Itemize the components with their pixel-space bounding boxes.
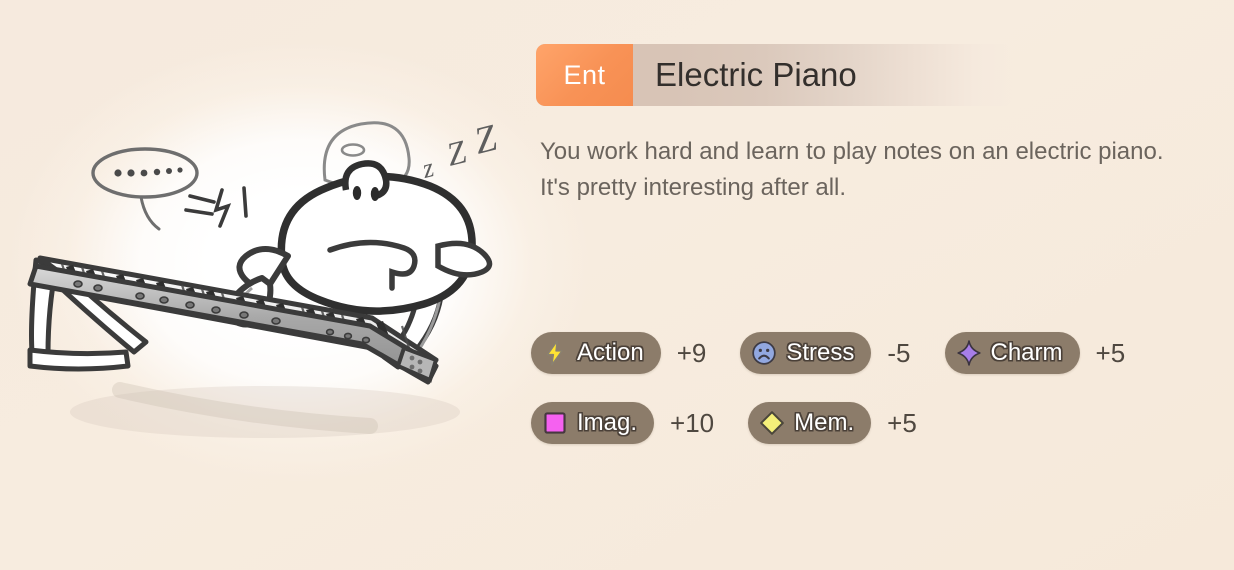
activity-description: You work hard and learn to play notes on…	[540, 134, 1180, 206]
card-title-bar: Ent Electric Piano	[536, 44, 1012, 106]
sad-face-icon	[751, 340, 777, 366]
page-title: Electric Piano	[633, 44, 1012, 106]
stat-changes-list: Action +9 Stress -5	[531, 325, 1231, 465]
stat-label: Stress	[786, 339, 854, 367]
stat-value: +5	[1096, 338, 1126, 369]
category-badge: Ent	[536, 44, 633, 106]
motion-marks-icon	[186, 188, 246, 226]
stat-label: Charm	[991, 339, 1063, 367]
svg-text:Z: Z	[470, 117, 502, 163]
stat-pill-stress: Stress	[740, 332, 871, 374]
stat-entry-charm: Charm +5	[945, 332, 1160, 374]
stat-entry-imagination: Imag. +10	[531, 402, 748, 444]
stat-value: +9	[677, 338, 707, 369]
stat-value: -5	[887, 338, 910, 369]
stat-pill-imagination: Imag.	[531, 402, 654, 444]
stat-row: Action +9 Stress -5	[531, 325, 1231, 381]
stat-label: Mem.	[794, 409, 854, 437]
stat-entry-memory: Mem. +5	[748, 402, 951, 444]
lightning-bolt-icon	[542, 340, 568, 366]
sparkle-star-icon	[956, 340, 982, 366]
stat-pill-memory: Mem.	[748, 402, 871, 444]
stat-label: Imag.	[577, 409, 637, 437]
svg-text:Z: Z	[443, 134, 470, 174]
activity-result-card: z z Z Z	[0, 0, 1234, 570]
activity-illustration: z z Z Z	[0, 60, 530, 480]
stat-pill-charm: Charm	[945, 332, 1080, 374]
stat-pill-action: Action	[531, 332, 661, 374]
stat-value: +10	[670, 408, 714, 439]
stat-entry-stress: Stress -5	[740, 332, 944, 374]
stat-entry-action: Action +9	[531, 332, 740, 374]
diamond-icon	[759, 410, 785, 436]
stat-label: Action	[577, 339, 644, 367]
stat-value: +5	[887, 408, 917, 439]
square-icon	[542, 410, 568, 436]
speech-bubble-icon	[93, 149, 197, 229]
stat-row: Imag. +10 Mem. +5	[531, 395, 1231, 451]
